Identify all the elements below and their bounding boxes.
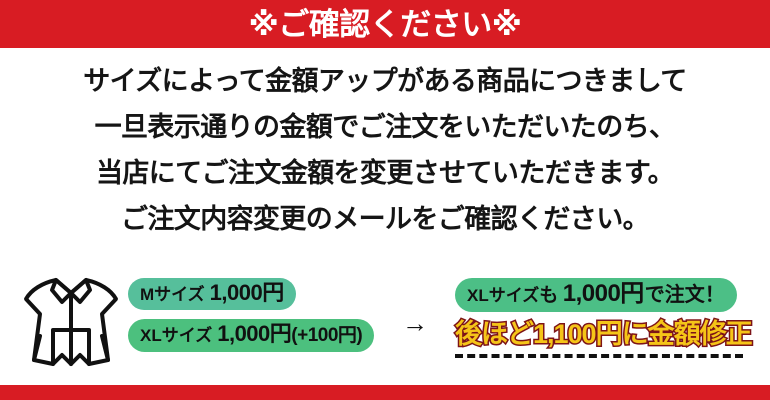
badge-size-xl-extra: (+100円) <box>291 326 362 347</box>
badge-size-xl-amount: 1,000円 <box>217 322 291 346</box>
badge-size-m: Mサイズ 1,000円 <box>128 278 296 310</box>
badge-order-xl-label: XLサイズ <box>467 287 539 306</box>
price-comparison-area: Mサイズ 1,000円 XLサイズ 1,000円 (+100円) → XLサイズ… <box>0 262 770 382</box>
notice-line-2: 一旦表示通りの金額でご注文をいただいたのち、 <box>0 104 770 150</box>
notice-text-block: サイズによって金額アップがある商品につきまして 一旦表示通りの金額でご注文をいた… <box>0 58 770 242</box>
price-correction-note: 後ほど1,100円に金額修正 <box>455 319 752 350</box>
badge-order-xl-amount: 1,000円 <box>563 281 644 307</box>
footer-bar <box>0 385 770 400</box>
notice-line-4: ご注文内容変更のメールをご確認ください。 <box>0 196 770 242</box>
badge-size-xl-label: XLサイズ <box>140 327 212 346</box>
notice-line-3: 当店にてご注文金額を変更させていただきます。 <box>0 150 770 196</box>
header-banner: ※ご確認ください※ <box>0 0 770 48</box>
before-price-group: Mサイズ 1,000円 XLサイズ 1,000円 (+100円) <box>128 278 374 352</box>
badge-order-xl: XLサイズ も 1,000円 で注文！ <box>455 278 737 312</box>
badge-order-xl-tail: で注文！ <box>645 284 725 306</box>
page-title: ※ご確認ください※ <box>249 9 522 40</box>
right-arrow-icon: → <box>402 310 428 336</box>
dashed-underline <box>455 354 743 358</box>
badge-size-xl: XLサイズ 1,000円 (+100円) <box>128 319 374 352</box>
badge-size-m-amount: 1,000円 <box>210 281 284 305</box>
badge-size-m-label: Mサイズ <box>140 286 205 305</box>
notice-line-1: サイズによって金額アップがある商品につきまして <box>0 58 770 104</box>
after-price-group: XLサイズ も 1,000円 で注文！ 後ほど1,100円に金額修正 <box>455 278 752 358</box>
badge-order-xl-particle: も <box>539 286 558 307</box>
dress-shirt-icon <box>16 268 126 378</box>
